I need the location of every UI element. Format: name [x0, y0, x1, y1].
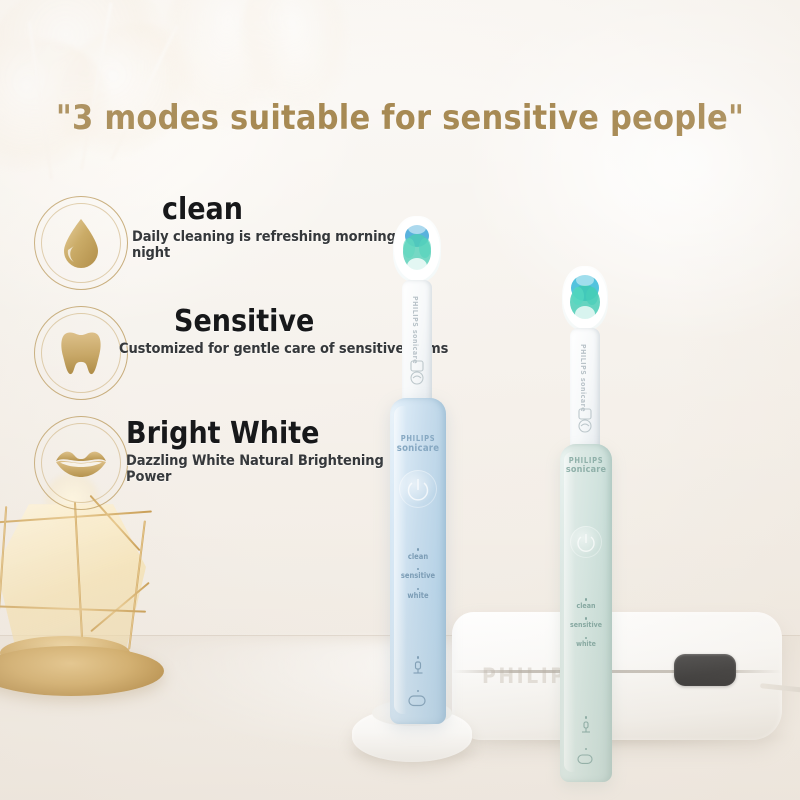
mode-label: sensitive — [401, 571, 435, 580]
brush-handle-brand-blue: PHILIPS sonicare — [390, 434, 446, 455]
brush-neck-brand-blue: PHILIPS sonicare — [411, 296, 419, 364]
feature-icon-ring-sensitive — [34, 306, 128, 400]
pampas-grass-decor-right — [130, 0, 390, 190]
brand-sonicare: sonicare — [566, 465, 606, 475]
power-button-blue[interactable] — [399, 470, 437, 508]
status-indicators-mint — [560, 716, 612, 770]
lantern-tray — [0, 646, 164, 696]
mode-label: white — [576, 640, 596, 648]
toothbrush-blue[interactable]: PHILIPS sonicare PHILIPS sonicare clean … — [375, 212, 485, 722]
philips-shield-logo-mint — [577, 408, 593, 434]
philips-shield-logo-blue — [409, 360, 425, 386]
page-title: "3 modes suitable for sensitive people" — [0, 98, 800, 138]
lantern-glass — [0, 504, 146, 654]
brush-head-replacement-icon-mint — [579, 721, 593, 737]
travel-case-button[interactable] — [674, 654, 736, 686]
feature-list: clean Daily cleaning is refreshing morni… — [34, 192, 434, 522]
brush-head-bristles-blue — [393, 216, 441, 282]
mode-label: white — [407, 591, 428, 600]
brand-philips: PHILIPS — [401, 434, 436, 443]
mode-label: clean — [577, 602, 596, 610]
battery-icon-mint — [577, 754, 595, 765]
feature-item-clean[interactable]: clean Daily cleaning is refreshing morni… — [34, 192, 434, 302]
brand-sonicare: sonicare — [397, 443, 439, 454]
water-drop-icon — [51, 213, 111, 273]
feature-item-sensitive[interactable]: Sensitive Customized for gentle care of … — [34, 302, 434, 412]
feature-icon-ring-bright-white — [34, 416, 128, 510]
gold-lantern-decor — [0, 496, 176, 732]
brush-neck-brand-mint: PHILIPS sonicare — [579, 344, 587, 412]
mode-indicators-mint: clean sensitive white — [560, 598, 612, 656]
toothbrush-mint[interactable]: PHILIPS sonicare PHILIPS sonicare clean … — [540, 262, 650, 782]
brush-handle-brand-mint: PHILIPS sonicare — [560, 456, 612, 477]
power-icon-mint — [570, 526, 602, 558]
mode-label: clean — [408, 552, 428, 561]
brush-head-bristles-mint — [562, 266, 608, 330]
power-button-mint[interactable] — [570, 526, 602, 558]
power-icon-blue — [399, 470, 437, 508]
lips-icon — [51, 433, 111, 493]
status-indicators-blue — [390, 656, 446, 712]
brush-head-replacement-icon-blue — [410, 661, 426, 679]
feature-icon-ring-clean — [34, 196, 128, 290]
feature-item-bright-white[interactable]: Bright White Dazzling White Natural Brig… — [34, 412, 434, 522]
product-banner: "3 modes suitable for sensitive people" — [0, 0, 800, 800]
brand-philips: PHILIPS — [569, 456, 604, 465]
mode-indicators-blue: clean sensitive white — [390, 548, 446, 608]
battery-icon-blue — [408, 695, 428, 707]
mode-label: sensitive — [570, 621, 602, 629]
tooth-icon — [51, 323, 111, 383]
